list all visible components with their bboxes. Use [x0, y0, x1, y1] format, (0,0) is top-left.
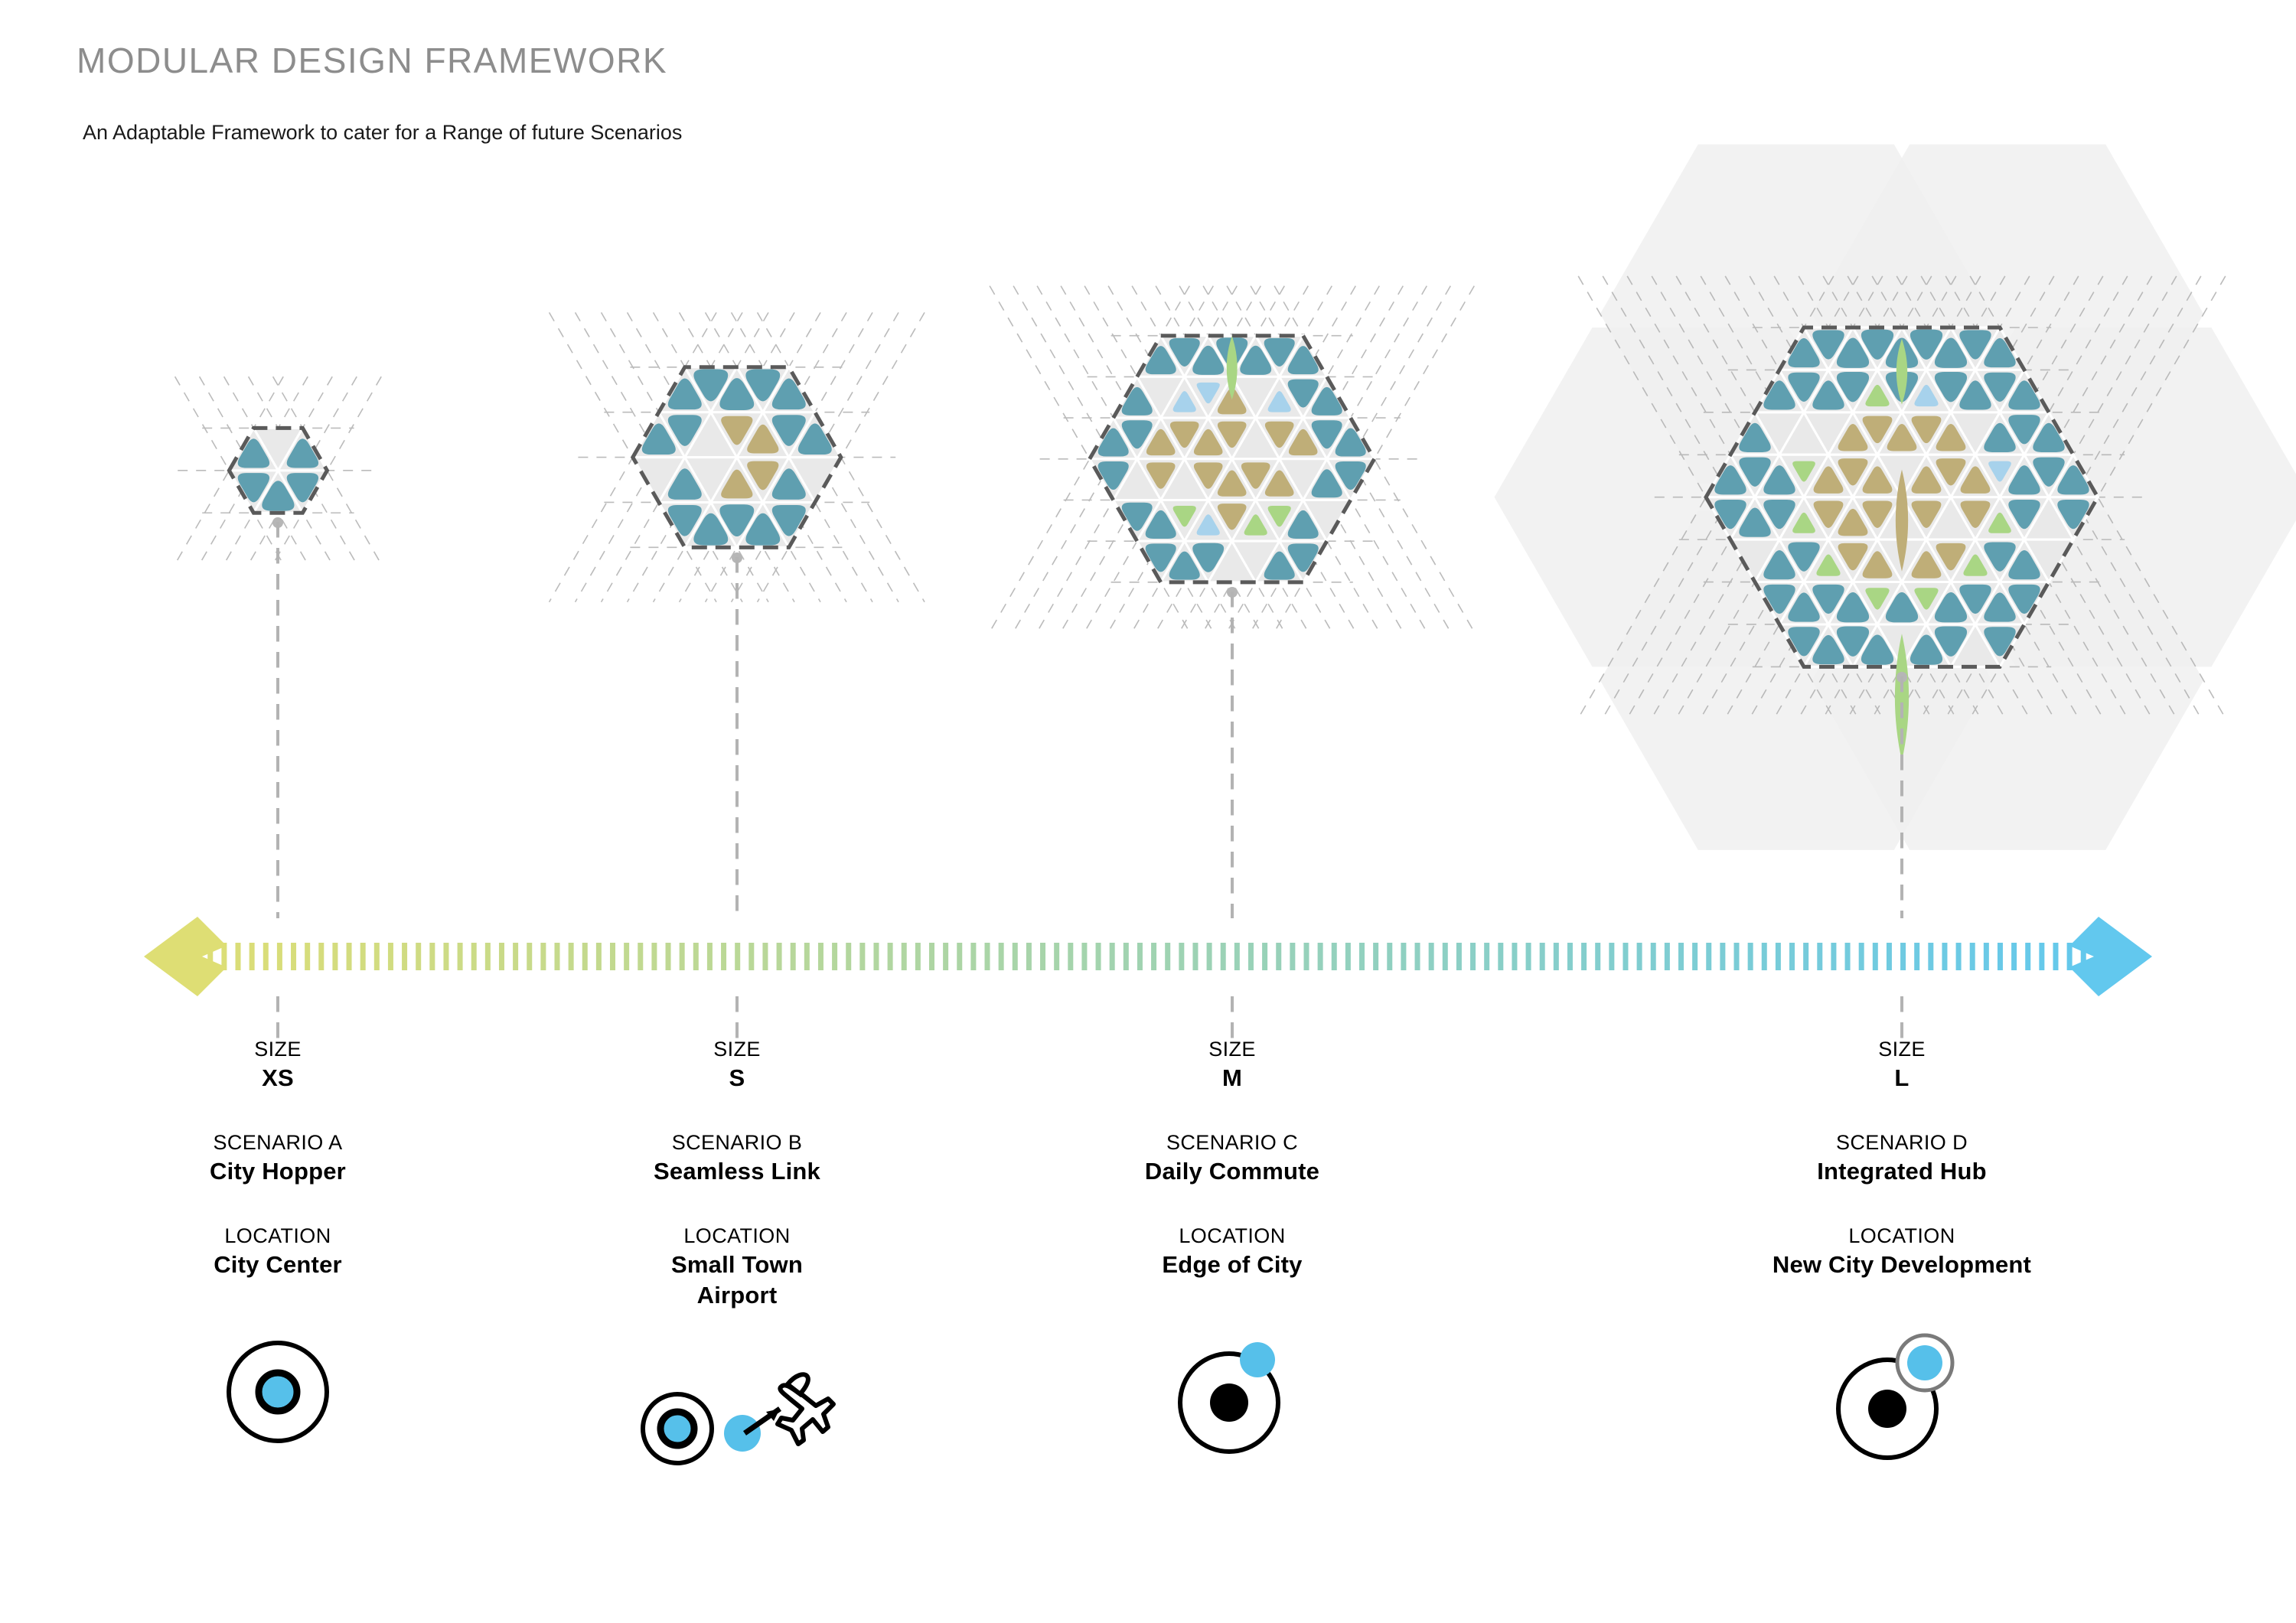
- ring-with-blue-core-and-plane-icon[interactable]: [572, 1354, 902, 1491]
- axis-tick: [291, 943, 296, 970]
- leader-line: [1900, 676, 1903, 918]
- axis-tick: [1512, 943, 1517, 970]
- leader-line: [276, 522, 279, 918]
- axis-tick: [832, 943, 837, 970]
- axis-tick: [1831, 943, 1836, 970]
- axis-tick: [429, 943, 435, 970]
- module-l: [1645, 266, 2159, 728]
- axis-tick: [1415, 943, 1420, 970]
- axis-tick: [735, 943, 740, 970]
- axis-tick: [1692, 943, 1698, 970]
- axis-tick: [1678, 943, 1684, 970]
- axis-tick: [1484, 943, 1489, 970]
- axis-tick: [443, 943, 448, 970]
- scenario-label: SCENARIO A: [117, 1130, 439, 1156]
- size-label: SIZE: [117, 1037, 439, 1063]
- axis-tick: [1914, 943, 1919, 970]
- scenario-value: Seamless Link: [572, 1156, 902, 1187]
- axis-tick: [846, 943, 851, 970]
- chevron-left-arrow-icon: [144, 917, 227, 996]
- size-label: SIZE: [1665, 1037, 2139, 1063]
- axis-tick: [2053, 943, 2058, 970]
- axis-tick: [943, 943, 948, 970]
- axis-tick: [873, 943, 879, 970]
- axis-tick: [1789, 943, 1795, 970]
- axis-tick: [1345, 943, 1351, 970]
- axis-tick: [1401, 943, 1406, 970]
- axis-tick: [1900, 943, 1906, 970]
- axis-tick: [582, 943, 588, 970]
- axis-tick: [1221, 943, 1226, 970]
- ring-with-black-core-and-blue-satellite-icon: [1156, 1323, 1309, 1468]
- axis-tick: [540, 943, 546, 970]
- axis-tick: [666, 943, 671, 970]
- axis-tick: [804, 943, 810, 970]
- axis-tick: [388, 943, 393, 970]
- axis-tick: [1609, 943, 1614, 970]
- axis-tick: [1151, 943, 1156, 970]
- axis-tick: [680, 943, 685, 970]
- axis-tick: [610, 943, 615, 970]
- axis-tick: [318, 943, 324, 970]
- size-value: S: [572, 1063, 902, 1093]
- axis-tick: [1456, 943, 1462, 970]
- axis-tick: [1554, 943, 1559, 970]
- location-label: LOCATION: [1068, 1224, 1397, 1250]
- location-label: LOCATION: [117, 1224, 439, 1250]
- axis-tick: [1845, 943, 1851, 970]
- leader-line: [735, 557, 739, 918]
- axis-tick: [1179, 943, 1184, 970]
- axis-tick: [374, 943, 380, 970]
- axis-tick: [1207, 943, 1212, 970]
- axis-tick: [249, 943, 255, 970]
- location-value: New City Development: [1665, 1250, 2139, 1280]
- axis-tick: [1290, 943, 1295, 970]
- axis-tick: [651, 943, 657, 970]
- axis-tick: [569, 943, 574, 970]
- scenario-value: City Hopper: [117, 1156, 439, 1187]
- axis-tick: [485, 943, 491, 970]
- axis-tick: [332, 943, 338, 970]
- axis-tick: [1873, 943, 1878, 970]
- axis-tick: [1081, 943, 1087, 970]
- axis-tick: [1540, 943, 1545, 970]
- axis-tick: [1567, 943, 1573, 970]
- axis-tick: [1720, 943, 1725, 970]
- axis-tick: [1234, 943, 1240, 970]
- axis-tick: [1817, 943, 1822, 970]
- axis-tick: [902, 943, 907, 970]
- axis-tick: [1928, 943, 1933, 970]
- size-label: SIZE: [572, 1037, 902, 1063]
- axis-tick: [2025, 943, 2030, 970]
- ring-with-blue-core-icon: [209, 1323, 347, 1461]
- axis-tick: [1387, 943, 1392, 970]
- axis-tick: [707, 943, 713, 970]
- axis-tick: [1068, 943, 1073, 970]
- axis-tick: [999, 943, 1004, 970]
- axis-tick: [263, 943, 269, 970]
- axis-tick: [777, 943, 782, 970]
- location-value: Small Town Airport: [572, 1250, 902, 1312]
- axis-tick: [2011, 943, 2017, 970]
- axis-tick: [1192, 943, 1198, 970]
- axis-tick: [1942, 943, 1947, 970]
- axis-tick: [1110, 943, 1115, 970]
- axis-tick: [471, 943, 477, 970]
- axis-tick: [1762, 943, 1767, 970]
- axis-tick: [513, 943, 518, 970]
- axis-tick: [888, 943, 893, 970]
- leader-line-lower: [1900, 996, 1903, 1042]
- scenario-column-s: SIZE S SCENARIO B Seamless Link LOCATION…: [572, 1037, 902, 1491]
- location-label: LOCATION: [1665, 1224, 2139, 1250]
- module-m: [1049, 295, 1414, 623]
- axis-tick: [1303, 943, 1309, 970]
- axis-tick: [957, 943, 962, 970]
- axis-tick: [2067, 943, 2073, 970]
- axis-tick: [624, 943, 629, 970]
- axis-tick: [915, 943, 921, 970]
- size-value: M: [1068, 1063, 1397, 1093]
- location-value: City Center: [117, 1250, 439, 1280]
- axis-tick: [1595, 943, 1600, 970]
- axis-tick: [360, 943, 366, 970]
- leader-line-lower: [276, 996, 279, 1042]
- axis-tick: [1526, 943, 1531, 970]
- axis-tick: [499, 943, 504, 970]
- axis-tick: [1096, 943, 1101, 970]
- axis-tick: [1665, 943, 1670, 970]
- axis-tick: [402, 943, 407, 970]
- axis-tick: [1332, 943, 1337, 970]
- ring-with-blue-core-and-plane-icon: [630, 1354, 844, 1491]
- leader-line-lower: [1231, 996, 1234, 1042]
- axis-tick: [1748, 943, 1753, 970]
- axis-tick: [1262, 943, 1267, 970]
- axis-tick: [1581, 943, 1587, 970]
- scenario-label: SCENARIO C: [1068, 1130, 1397, 1156]
- axis-tick: [693, 943, 699, 970]
- axis-tick: [818, 943, 823, 970]
- axis-tick: [1040, 943, 1045, 970]
- axis-tick: [1803, 943, 1808, 970]
- axis-tick: [985, 943, 990, 970]
- axis-tick: [1734, 943, 1740, 970]
- axis-tick: [1956, 943, 1962, 970]
- axis-tick: [1124, 943, 1129, 970]
- leader-line-lower: [735, 996, 739, 1042]
- scenario-column-l: SIZE L SCENARIO D Integrated Hub LOCATIO…: [1665, 1037, 2139, 1476]
- axis-tick: [458, 943, 463, 970]
- location-value: Edge of City: [1068, 1250, 1397, 1280]
- scenario-column-xs: SIZE XS SCENARIO A City Hopper LOCATION …: [117, 1037, 439, 1461]
- axis-tick: [1859, 943, 1864, 970]
- axis-tick: [1248, 943, 1254, 970]
- axis-tick: [1776, 943, 1781, 970]
- axis-tick: [236, 943, 241, 970]
- axis-tick: [1637, 943, 1642, 970]
- axis-tick: [859, 943, 865, 970]
- axis-tick: [929, 943, 934, 970]
- axis-tick: [1887, 943, 1892, 970]
- axis-tick: [1165, 943, 1170, 970]
- axis-tick: [305, 943, 310, 970]
- axis-tick: [1651, 943, 1656, 970]
- size-value: L: [1665, 1063, 2139, 1093]
- axis-tick: [1443, 943, 1448, 970]
- axis-tick: [1373, 943, 1378, 970]
- ring-with-black-core-and-circled-blue-satellite-icon[interactable]: [1665, 1323, 2139, 1476]
- scenario-label: SCENARIO D: [1665, 1130, 2139, 1156]
- axis-tick: [1429, 943, 1434, 970]
- axis-tick: [596, 943, 602, 970]
- axis-tick: [970, 943, 976, 970]
- axis-tick: [555, 943, 560, 970]
- axis-tick: [1984, 943, 1989, 970]
- axis-tick: [1318, 943, 1323, 970]
- axis-tick: [762, 943, 768, 970]
- axis-tick: [1706, 943, 1711, 970]
- axis-tick: [1970, 943, 1975, 970]
- axis-tick: [638, 943, 643, 970]
- axis-tick: [347, 943, 352, 970]
- module-s: [589, 323, 885, 592]
- axis-tick: [1998, 943, 2003, 970]
- axis-tick: [1026, 943, 1032, 970]
- axis-tick: [1137, 943, 1143, 970]
- location-label: LOCATION: [572, 1224, 902, 1250]
- axis-tick: [527, 943, 532, 970]
- axis-tick: [748, 943, 754, 970]
- axis-tick: [1054, 943, 1059, 970]
- ring-with-black-core-and-blue-satellite-icon[interactable]: [1068, 1323, 1397, 1468]
- axis-tick: [1470, 943, 1476, 970]
- axis-tick: [416, 943, 421, 970]
- axis-tick: [791, 943, 796, 970]
- axis-tick: [2039, 943, 2044, 970]
- scenario-label: SCENARIO B: [572, 1130, 902, 1156]
- axis-tick: [1276, 943, 1281, 970]
- size-scale-axis[interactable]: [0, 917, 2296, 996]
- ring-with-black-core-and-circled-blue-satellite-icon: [1814, 1323, 1990, 1476]
- axis-tick: [721, 943, 726, 970]
- size-value: XS: [117, 1063, 439, 1093]
- axis-tick: [1498, 943, 1503, 970]
- axis-tick: [277, 943, 282, 970]
- axis-tick: [1013, 943, 1018, 970]
- axis-tick: [1359, 943, 1365, 970]
- leader-line: [1231, 592, 1234, 918]
- axis-tick: [1623, 943, 1628, 970]
- scenario-value: Integrated Hub: [1665, 1156, 2139, 1187]
- module-diagram-stage: [0, 0, 2296, 957]
- ring-with-blue-core-icon[interactable]: [117, 1323, 439, 1461]
- scenario-column-m: SIZE M SCENARIO C Daily Commute LOCATION…: [1068, 1037, 1397, 1468]
- size-label: SIZE: [1068, 1037, 1397, 1063]
- scenario-value: Daily Commute: [1068, 1156, 1397, 1187]
